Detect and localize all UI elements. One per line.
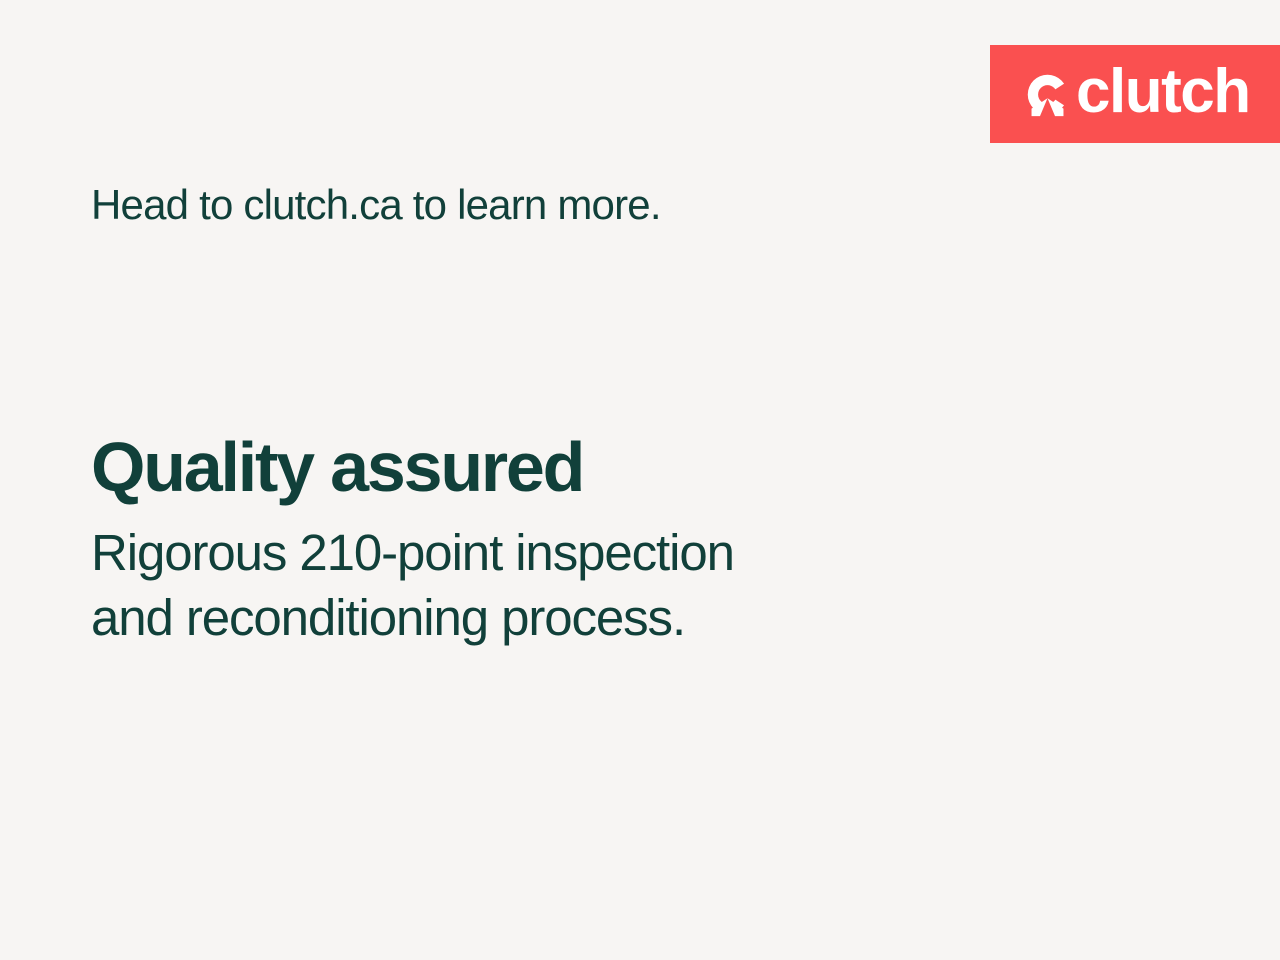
brand-lockup: clutch: [1024, 45, 1250, 143]
kicker-text: Head to clutch.ca to learn more.: [91, 180, 661, 230]
headline-block: Quality assured Rigorous 210-point inspe…: [91, 432, 1091, 651]
page-title: Quality assured: [91, 432, 1091, 503]
subcopy-line-2: and reconditioning process.: [91, 586, 1091, 651]
clutch-c-mark-icon: [1024, 71, 1071, 118]
promo-slide: clutch Head to clutch.ca to learn more. …: [0, 0, 1280, 960]
clutch-logo-badge[interactable]: clutch: [990, 45, 1280, 143]
subcopy: Rigorous 210-point inspection and recond…: [91, 521, 1091, 651]
clutch-wordmark: clutch: [1076, 61, 1250, 123]
subcopy-line-1: Rigorous 210-point inspection: [91, 521, 1091, 586]
